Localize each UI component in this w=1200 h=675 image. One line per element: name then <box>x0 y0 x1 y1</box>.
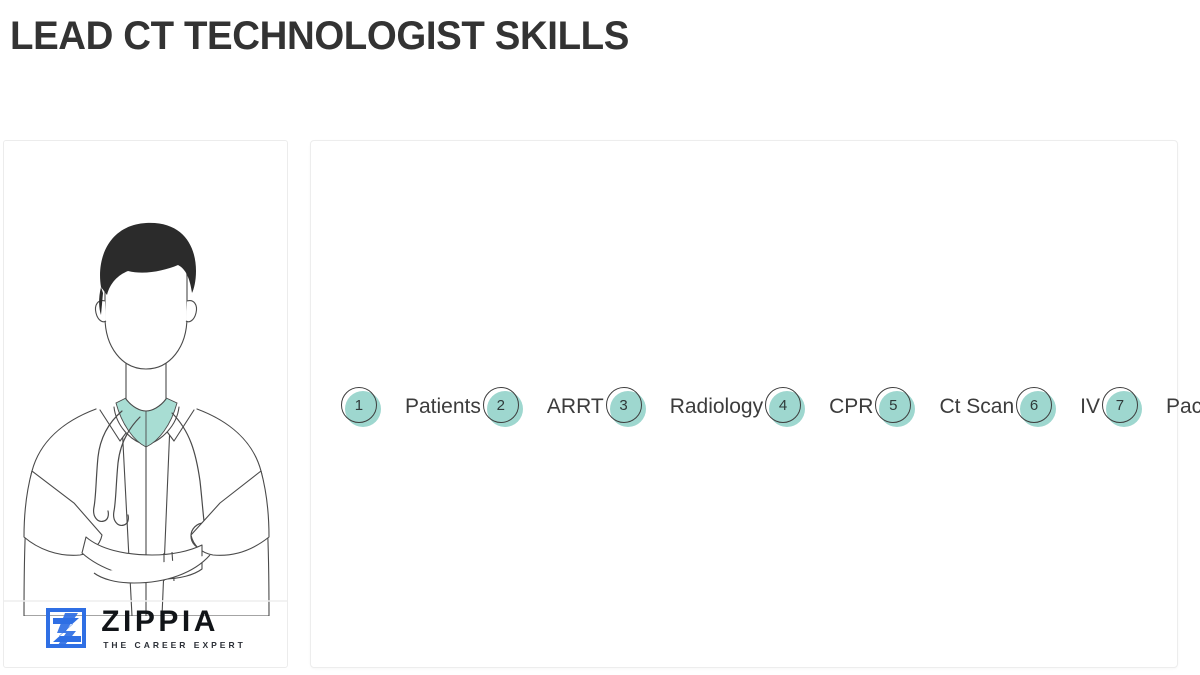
skill-item-2[interactable]: 2 ARRT <box>481 177 604 637</box>
badge-number: 7 <box>1102 387 1138 423</box>
rank-badge-1: 1 <box>339 385 383 429</box>
illustration-panel: ZIPPIA THE CAREER EXPERT <box>3 140 288 668</box>
skill-item-5[interactable]: 5 Ct Scan <box>873 177 1014 637</box>
skill-item-1[interactable]: 1 Patients <box>339 177 481 637</box>
skill-item-6[interactable]: 6 IV <box>1014 177 1100 637</box>
skill-label: ARRT <box>547 395 604 418</box>
skills-card: 1 Patients 2 ARRT 3 Radiology <box>310 140 1178 668</box>
skill-item-3[interactable]: 3 Radiology <box>604 177 763 637</box>
skills-list: 1 Patients 2 ARRT 3 Radiology <box>311 141 1177 667</box>
skill-label: Pacs <box>1166 395 1200 418</box>
skill-item-4[interactable]: 4 CPR <box>763 177 873 637</box>
badge-number: 5 <box>875 387 911 423</box>
skill-label: Ct Scan <box>939 395 1014 418</box>
page-title: LEAD CT TECHNOLOGIST SKILLS <box>10 14 629 59</box>
zippia-tagline: THE CAREER EXPERT <box>103 641 246 650</box>
skill-label: Radiology <box>670 395 763 418</box>
rank-badge-3: 3 <box>604 385 648 429</box>
zippia-logo-mark <box>45 607 89 649</box>
skills-infographic-page: LEAD CT TECHNOLOGIST SKILLS <box>0 0 1200 675</box>
rank-badge-5: 5 <box>873 385 917 429</box>
rank-badge-6: 6 <box>1014 385 1058 429</box>
zippia-wordmark: ZIPPIA <box>101 607 246 637</box>
rank-badge-4: 4 <box>763 385 807 429</box>
badge-number: 6 <box>1016 387 1052 423</box>
zippia-logo: ZIPPIA THE CAREER EXPERT <box>4 597 287 659</box>
rank-badge-7: 7 <box>1100 385 1144 429</box>
skill-label: IV <box>1080 395 1100 418</box>
skill-item-7[interactable]: 7 Pacs <box>1100 177 1200 637</box>
skill-label: CPR <box>829 395 873 418</box>
rank-badge-2: 2 <box>481 385 525 429</box>
badge-number: 1 <box>341 387 377 423</box>
badge-number: 2 <box>483 387 519 423</box>
badge-number: 3 <box>606 387 642 423</box>
badge-number: 4 <box>765 387 801 423</box>
skill-label: Patients <box>405 395 481 418</box>
doctor-illustration <box>4 141 288 616</box>
